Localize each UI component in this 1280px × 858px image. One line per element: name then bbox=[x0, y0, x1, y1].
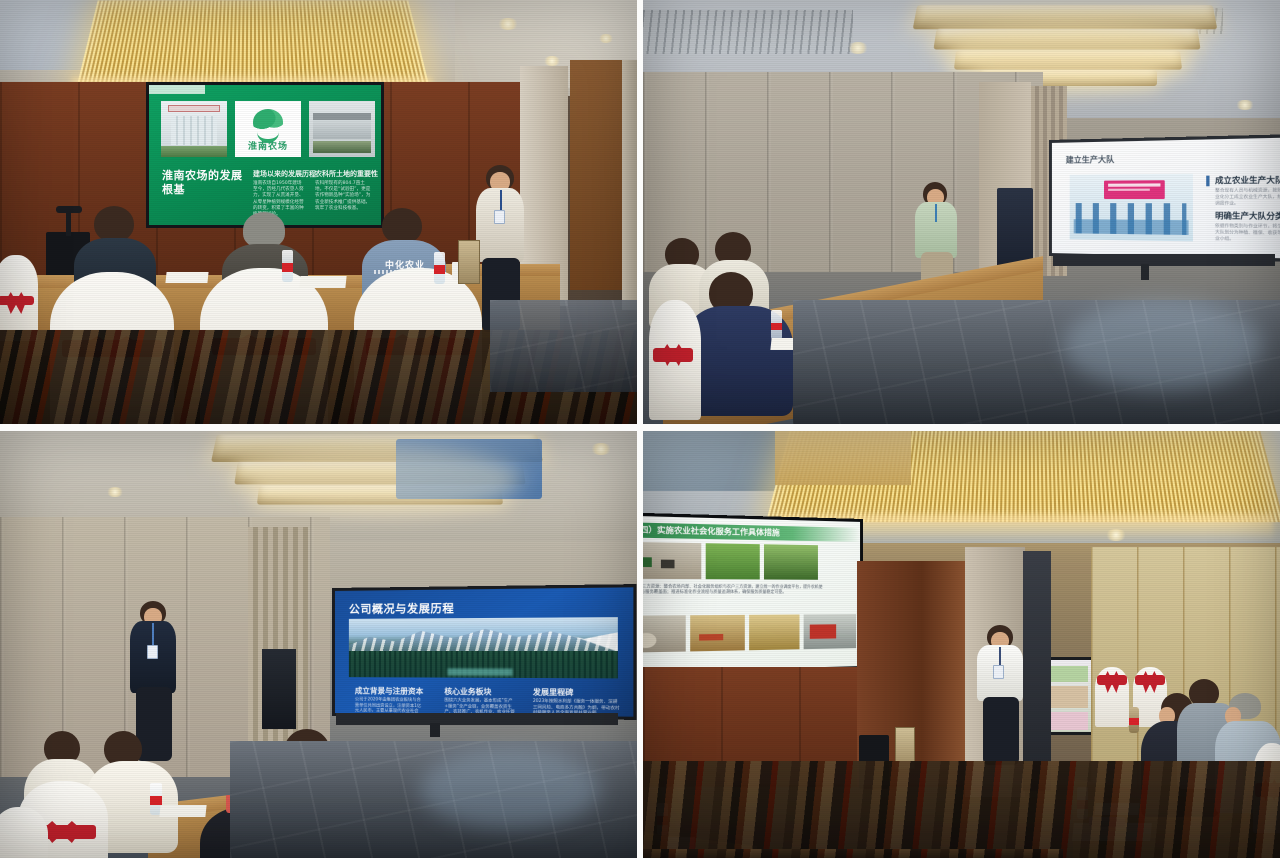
ceiling-panel-left bbox=[643, 431, 793, 491]
slide-production-team: 建立生产大队 成立农业生产大队 整合现有人员与机械资源，按照专业化分工成立农业生… bbox=[1052, 137, 1280, 258]
downlight-2 bbox=[543, 56, 561, 66]
slide-huainan-farm: 淮南农场 淮南农场的发展根基 建场以来的发展历程 淮南农场自1950年建场至今，… bbox=[149, 85, 381, 225]
slide-agri-service: （四）实施农业社会化服务工作具体措施 1. 整合三方资源：整合农场内部、社会化服… bbox=[643, 516, 860, 673]
wall-dark-recess bbox=[1023, 551, 1051, 791]
ceiling-vent bbox=[643, 10, 853, 54]
downlight-2 bbox=[1235, 100, 1255, 110]
led-screen-light: 建立生产大队 成立农业生产大队 整合现有人员与机械资源，按照专业化分工成立农业生… bbox=[1049, 134, 1280, 262]
floor-carpet bbox=[643, 761, 1280, 858]
av-cabinet bbox=[262, 649, 296, 729]
door bbox=[570, 60, 622, 290]
slide-col3-heading: 发展里程碑 bbox=[533, 686, 574, 698]
av-cabinet bbox=[997, 188, 1033, 270]
slide-hero-image bbox=[349, 617, 618, 678]
screen-stand-leg bbox=[430, 723, 440, 737]
paper-1 bbox=[159, 805, 206, 817]
presenter-badge bbox=[993, 665, 1004, 679]
wall-edge bbox=[622, 60, 637, 310]
slide-illustration bbox=[1070, 174, 1193, 242]
slide-col2-heading: 农科所土地的重要性 bbox=[315, 169, 378, 179]
paper-1 bbox=[165, 272, 208, 283]
photo-collage: 淮南农场 淮南农场的发展根基 建场以来的发展历程 淮南农场自1950年建场至今，… bbox=[0, 0, 1280, 858]
downlight-1 bbox=[1105, 529, 1127, 541]
chandelier-gold bbox=[77, 0, 429, 84]
slide-img-cotton-harvest bbox=[643, 542, 701, 579]
presenter-badge bbox=[147, 645, 158, 659]
led-screen-green: 淮南农场 淮南农场的发展根基 建场以来的发展历程 淮南农场自1950年建场至今，… bbox=[146, 82, 384, 228]
slide-img-bales bbox=[643, 615, 686, 652]
led-screen-blue: 公司概况与发展历程 成立背景与注册资本 公司于2020年由集团农业板块与合营单位… bbox=[332, 584, 637, 720]
presenter-badge bbox=[494, 210, 505, 224]
slide-image-building bbox=[309, 101, 375, 157]
chandelier-side-panel bbox=[775, 431, 911, 485]
downlight-1 bbox=[847, 42, 869, 54]
slide-section1-heading: 成立农业生产大队 bbox=[1215, 174, 1280, 186]
photo-top-left: 淮南农场 淮南农场的发展根基 建场以来的发展历程 淮南农场自1950年建场至今，… bbox=[0, 0, 637, 424]
slide-col1-heading: 建场以来的发展历程 bbox=[253, 169, 316, 179]
slide-company-overview: 公司概况与发展历程 成立背景与注册资本 公司于2020年由集团农业板块与合营单位… bbox=[335, 587, 633, 716]
chair-sash-back-1 bbox=[1097, 675, 1127, 685]
downlight-2 bbox=[106, 487, 124, 497]
slide-img-farmland bbox=[764, 544, 818, 580]
chair-sash-1 bbox=[653, 348, 693, 362]
slide-secondary bbox=[1046, 660, 1092, 732]
slide-logo-text: 淮南农场 bbox=[235, 139, 301, 152]
water-bottle-1 bbox=[771, 310, 782, 340]
slide-img-green-field bbox=[706, 543, 760, 579]
led-screen-farm: （四）实施农业社会化服务工作具体措施 1. 整合三方资源：整合农场内部、社会化服… bbox=[643, 512, 863, 675]
downlight-1 bbox=[497, 18, 519, 30]
chair-sash-back-2 bbox=[1135, 675, 1165, 685]
slide-img-field-work bbox=[690, 615, 745, 652]
mic-head bbox=[56, 206, 82, 213]
floor-tile bbox=[490, 300, 637, 392]
slide-section2-heading: 明确生产大队分类 bbox=[1215, 210, 1280, 222]
slide-col2-heading: 核心业务板块 bbox=[444, 686, 491, 698]
slide-section2-body: 依据作物类别与作业环节，将生产大队划分为种植、植保、收获等专业小组。 bbox=[1215, 223, 1280, 243]
chair-sash-far-left bbox=[0, 296, 34, 305]
downlight-1 bbox=[590, 443, 612, 455]
photo-top-right: 建立生产大队 成立农业生产大队 整合现有人员与机械资源，按照专业化分工成立农业生… bbox=[643, 0, 1280, 424]
downlight-3 bbox=[598, 34, 614, 43]
slide-title: 公司概况与发展历程 bbox=[349, 600, 454, 617]
chair-2 bbox=[0, 807, 48, 858]
slide-col1-heading: 成立背景与注册资本 bbox=[355, 685, 423, 697]
photo-bottom-left: 公司概况与发展历程 成立背景与注册资本 公司于2020年由集团农业板块与合营单位… bbox=[0, 431, 637, 858]
water-bottle-1 bbox=[282, 250, 293, 282]
slide-image-office bbox=[161, 101, 227, 157]
slide-title: 淮南农场的发展根基 bbox=[162, 169, 246, 197]
slide-section1-body: 整合现有人员与机械资源，按照专业化分工成立农业生产大队，统一调度作业。 bbox=[1215, 187, 1280, 206]
slide-col2-body: 农科所现有的804.7亩土地，不仅是“试验田”，更是农作物新品种“实验场”，为农… bbox=[315, 181, 373, 212]
screen-stand-bar bbox=[336, 713, 618, 725]
floor-reflection bbox=[420, 749, 600, 829]
floor-carpet-lower bbox=[643, 849, 1063, 858]
photo-bottom-right: （四）实施农业社会化服务工作具体措施 1. 整合三方资源：整合农场内部、社会化服… bbox=[643, 431, 1280, 858]
slide-logo-card: 淮南农场 bbox=[235, 101, 301, 157]
slide-title: 建立生产大队 bbox=[1066, 154, 1115, 166]
collage-gutter-horizontal bbox=[0, 424, 1280, 431]
thermos-1 bbox=[1129, 707, 1139, 733]
water-bottle-2 bbox=[434, 252, 445, 284]
slide-img-machinery bbox=[804, 614, 856, 649]
paper-2 bbox=[299, 276, 346, 288]
slide-body: 1. 整合三方资源：整合农场内部、社会化服务组织与农户三方资源，建立统一的作业调… bbox=[643, 583, 823, 595]
slide-img-combine bbox=[749, 614, 799, 650]
table-sign bbox=[458, 240, 480, 284]
screen-stand-bar bbox=[1053, 254, 1275, 266]
floor-reflection bbox=[1063, 300, 1263, 390]
screen-stand-leg bbox=[1141, 264, 1149, 280]
slide-accent-bar bbox=[1206, 176, 1209, 187]
